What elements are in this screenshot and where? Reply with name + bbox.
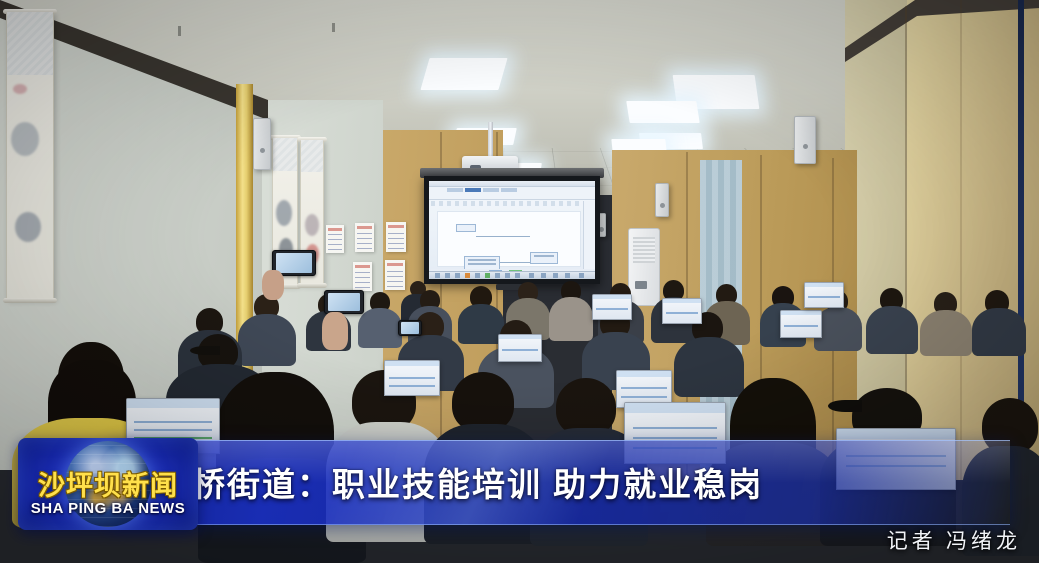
attendee-laptop[interactable] [662, 298, 702, 324]
attendee-body [358, 308, 402, 348]
baseball-cap-brim [828, 400, 862, 412]
attendee-body [920, 310, 972, 356]
laptop-screen-line [633, 427, 717, 429]
laptop-screen-toolbar [625, 403, 725, 413]
ink-wash [13, 84, 27, 94]
attendee-hand [262, 270, 284, 300]
scroll-mount [7, 12, 53, 75]
laptop-screen-line [596, 308, 628, 310]
news-logo-chinese: 沙坪坝新闻 [18, 464, 198, 503]
scroll-mount [273, 138, 297, 171]
phone-screen [328, 293, 360, 311]
attendee-laptop[interactable] [592, 294, 632, 320]
ink-wash [11, 122, 39, 156]
broadcast-frame: 天星桥街道：职业技能培训 助力就业稳岗 沙坪坝新闻 SHA PING BA NE… [0, 0, 1039, 563]
laptop-screen-toolbar [593, 295, 631, 299]
ceiling-light [420, 58, 507, 90]
ribbon-tab [483, 188, 499, 192]
projector-mount-pole [488, 122, 493, 160]
attendee-laptop[interactable] [498, 334, 542, 362]
wall-speaker [655, 183, 669, 217]
headline-text: 天星桥街道：职业技能培训 助力就业稳岗 [122, 447, 763, 517]
laptop-screen-toolbar [805, 283, 843, 287]
laptop-screen-toolbar [617, 371, 671, 377]
laptop-screen-line [389, 377, 434, 379]
baseball-cap-brim [190, 346, 220, 355]
attendee-laptop[interactable] [780, 310, 822, 338]
laptop-screen-toolbar [781, 311, 821, 315]
ribbon-tab [447, 188, 463, 192]
wall-notice-poster [355, 223, 374, 252]
laptop-screen-line [666, 312, 698, 314]
wall-speaker [794, 116, 816, 164]
diagram-connector [476, 236, 530, 237]
laptop-screen-line [621, 387, 666, 389]
reporter-credit: 记者 冯绪龙 [887, 525, 1021, 555]
ceiling-light [626, 101, 699, 123]
attendee-head [452, 372, 514, 432]
ribbon-tab-active [465, 188, 481, 192]
attendee-body [549, 297, 593, 341]
attendee-laptop[interactable] [804, 282, 844, 308]
laptop-screen-line [784, 325, 818, 327]
diagram-node [456, 224, 476, 232]
wall-notice-poster [386, 222, 406, 252]
attendee-body [866, 306, 918, 354]
laptop-screen-toolbar [499, 335, 541, 339]
laptop-screen-toolbar [385, 361, 439, 366]
wall-notice-poster [326, 225, 344, 253]
ink-wash [15, 212, 41, 242]
laptop-screen-toolbar [663, 299, 701, 303]
phone-screen [276, 253, 311, 272]
sprinkler-head [178, 26, 181, 36]
laptop-screen-line [502, 349, 537, 351]
app-toolbar [431, 201, 593, 206]
attendee-hand [322, 312, 348, 350]
laptop-screen-line [134, 421, 211, 423]
laptop-screen-line [389, 385, 434, 387]
ink-wash [276, 200, 292, 226]
laptop-screen-line [621, 396, 666, 398]
ribbon-tab [501, 188, 517, 192]
news-logo-english: SHA PING BA NEWS [18, 500, 198, 517]
attendee-phone[interactable] [398, 320, 422, 336]
app-ribbon-tabs [447, 188, 517, 192]
wall-speaker [253, 118, 271, 170]
phone-screen [401, 322, 420, 333]
ink-wash [305, 214, 319, 236]
attendee-body [972, 308, 1026, 356]
attendee-phone[interactable] [324, 290, 364, 314]
attendee-body [238, 314, 296, 366]
news-logo: 沙坪坝新闻 SHA PING BA NEWS [18, 438, 198, 530]
laptop-screen-line [808, 296, 840, 298]
attendee-laptop[interactable] [384, 360, 440, 396]
attendee-body [674, 337, 744, 397]
lower-third-graphics: 天星桥街道：职业技能培训 助力就业稳岗 沙坪坝新闻 SHA PING BA NE… [0, 430, 1039, 563]
laptop-screen-toolbar [127, 399, 219, 408]
scroll-mount [301, 140, 323, 172]
sprinkler-head [332, 23, 335, 32]
